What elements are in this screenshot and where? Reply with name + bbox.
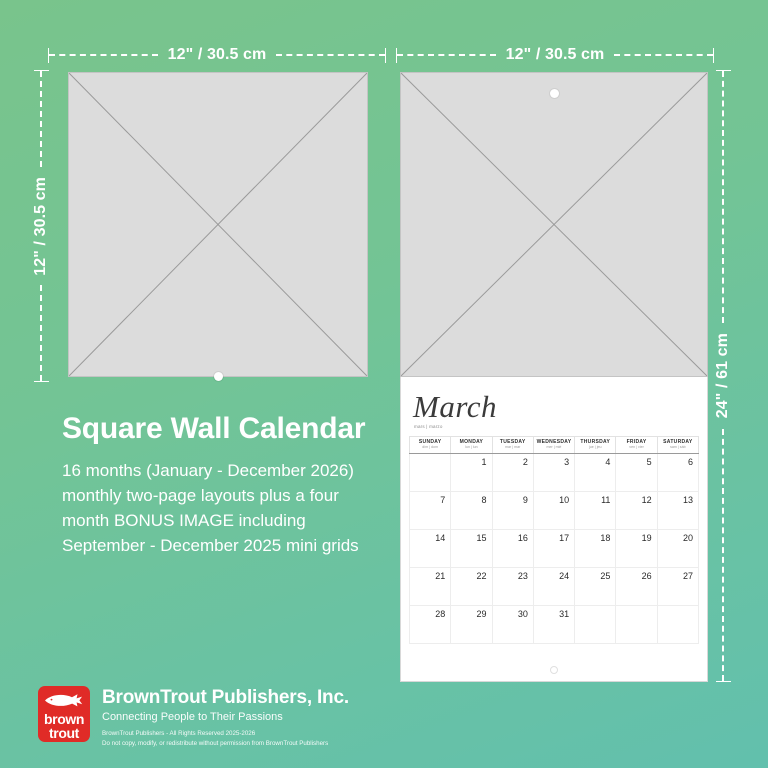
- calendar-day-cell: [575, 606, 616, 644]
- calendar-week-row: 1 2 3 4 5 6: [410, 454, 699, 492]
- day-header-alt-label: mar | mar: [493, 446, 533, 450]
- product-description: 16 months (January - December 2026) mont…: [62, 458, 392, 558]
- calendar-day-cell: 17: [533, 530, 574, 568]
- dimension-right-vertical: 24" / 61 cm: [712, 70, 734, 682]
- calendar-day-cell: 13: [657, 492, 698, 530]
- legal-restriction-line: Do not copy, modify, or redistribute wit…: [102, 739, 349, 748]
- brand-name: BrownTrout Publishers, Inc.: [102, 688, 349, 709]
- calendar-day-header-monday: MONDAY lun | lun: [451, 437, 492, 454]
- calendar-day-cell: 24: [533, 568, 574, 606]
- calendar-day-cell: 15: [451, 530, 492, 568]
- calendar-table: SUNDAY dim | dom MONDAY lun | lun TUESDA…: [409, 436, 699, 644]
- calendar-day-cell: 4: [575, 454, 616, 492]
- calendar-day-cell: 7: [410, 492, 451, 530]
- calendar-day-cell: 30: [492, 606, 533, 644]
- product-headline: Square Wall Calendar: [62, 412, 365, 446]
- hanging-hole: [214, 372, 223, 381]
- dimension-top-right: 12" / 30.5 cm: [396, 44, 714, 66]
- calendar-day-cell: [616, 606, 657, 644]
- calendar-day-header-friday: FRIDAY ven | vier: [616, 437, 657, 454]
- calendar-day-cell: [410, 454, 451, 492]
- calendar-day-header-sunday: SUNDAY dim | dom: [410, 437, 451, 454]
- legal-copyright-line: BrownTrout Publishers - All Rights Reser…: [102, 729, 349, 738]
- calendar-day-cell: 2: [492, 454, 533, 492]
- calendar-week-row: 7 8 9 10 11 12 13: [410, 492, 699, 530]
- day-header-alt-label: jue | jeu: [575, 446, 615, 450]
- calendar-day-cell: 21: [410, 568, 451, 606]
- dimension-top-left: 12" / 30.5 cm: [48, 44, 386, 66]
- dimension-line-top: [722, 71, 724, 323]
- dimension-left-vertical: 12" / 30.5 cm: [30, 70, 52, 382]
- calendar-week-row: 28 29 30 31: [410, 606, 699, 644]
- dimension-cap-end: [385, 48, 386, 63]
- hanging-hole: [550, 89, 559, 98]
- dimension-line-bottom: [722, 429, 724, 681]
- dimension-cap-bottom: [716, 681, 731, 682]
- brand-tagline: Connecting People to Their Passions: [102, 710, 349, 725]
- description-line: 16 months (January - December 2026): [62, 458, 392, 483]
- calendar-day-cell: 10: [533, 492, 574, 530]
- calendar-day-cell: 6: [657, 454, 698, 492]
- description-line: month BONUS IMAGE including: [62, 508, 392, 533]
- logo-word-trout: trout: [38, 726, 90, 740]
- calendar-day-cell: 25: [575, 568, 616, 606]
- day-header-alt-label: sam | sáb: [658, 446, 698, 450]
- description-line: monthly two-page layouts plus a four: [62, 483, 392, 508]
- calendar-day-cell: 29: [451, 606, 492, 644]
- hanging-hole: [550, 666, 558, 674]
- dimension-line-end: [614, 54, 713, 56]
- calendar-week-row: 14 15 16 17 18 19 20: [410, 530, 699, 568]
- footer-branding: brown trout BrownTrout Publishers, Inc. …: [38, 686, 349, 748]
- calendar-day-cell: 18: [575, 530, 616, 568]
- dimension-line-start: [397, 54, 496, 56]
- calendar-day-cell: 27: [657, 568, 698, 606]
- dimension-line-bottom: [40, 285, 42, 381]
- calendar-day-cell: 22: [451, 568, 492, 606]
- calendar-day-cell: 28: [410, 606, 451, 644]
- description-line: September - December 2025 mini grids: [62, 533, 392, 558]
- dimension-line-end: [276, 54, 385, 56]
- day-header-alt-label: mer | mié: [534, 446, 574, 450]
- calendar-day-cell: 31: [533, 606, 574, 644]
- day-header-alt-label: lun | lun: [451, 446, 491, 450]
- placeholder-diagonal-cross-icon: [401, 73, 707, 376]
- calendar-day-cell: [657, 606, 698, 644]
- calendar-day-cell: 19: [616, 530, 657, 568]
- dimension-label-height-left: 12" / 30.5 cm: [32, 167, 50, 286]
- day-header-alt-label: dim | dom: [410, 446, 450, 450]
- calendar-day-header-tuesday: TUESDAY mar | mar: [492, 437, 533, 454]
- product-image-placeholder-open: [400, 72, 708, 377]
- logo-word-brown: brown: [38, 712, 90, 726]
- dimension-label-height-right: 24" / 61 cm: [714, 323, 732, 428]
- browntrout-logo: brown trout: [38, 686, 90, 742]
- calendar-day-cell: 12: [616, 492, 657, 530]
- calendar-grid-page: March mars | marzo SUNDAY dim | dom MOND…: [400, 377, 708, 682]
- calendar-day-cell: 9: [492, 492, 533, 530]
- calendar-month-subtitle: mars | marzo: [409, 424, 699, 429]
- calendar-day-cell: 11: [575, 492, 616, 530]
- calendar-month-title: March: [409, 391, 699, 422]
- calendar-day-cell: 16: [492, 530, 533, 568]
- calendar-day-cell: 1: [451, 454, 492, 492]
- calendar-day-cell: 26: [616, 568, 657, 606]
- placeholder-diagonal-cross-icon: [69, 73, 367, 376]
- calendar-header-row: SUNDAY dim | dom MONDAY lun | lun TUESDA…: [410, 437, 699, 454]
- day-header-alt-label: ven | vier: [616, 446, 656, 450]
- calendar-day-cell: 20: [657, 530, 698, 568]
- dimension-cap-end: [713, 48, 714, 63]
- dimension-label-width-left: 12" / 30.5 cm: [158, 46, 277, 64]
- calendar-day-header-thursday: THURSDAY jue | jeu: [575, 437, 616, 454]
- calendar-day-header-saturday: SATURDAY sam | sáb: [657, 437, 698, 454]
- calendar-day-cell: 8: [451, 492, 492, 530]
- calendar-day-cell: 23: [492, 568, 533, 606]
- calendar-day-cell: 3: [533, 454, 574, 492]
- dimension-cap-bottom: [34, 381, 49, 382]
- trout-fish-icon: [41, 690, 87, 710]
- calendar-day-cell: 14: [410, 530, 451, 568]
- dimension-label-width-right: 12" / 30.5 cm: [496, 46, 615, 64]
- product-image-placeholder-closed: [68, 72, 368, 377]
- calendar-day-cell: 5: [616, 454, 657, 492]
- calendar-week-row: 21 22 23 24 25 26 27: [410, 568, 699, 606]
- dimension-line-top: [40, 71, 42, 167]
- brand-text-block: BrownTrout Publishers, Inc. Connecting P…: [102, 686, 349, 748]
- dimension-line-start: [49, 54, 158, 56]
- calendar-day-header-wednesday: WEDNESDAY mer | mié: [533, 437, 574, 454]
